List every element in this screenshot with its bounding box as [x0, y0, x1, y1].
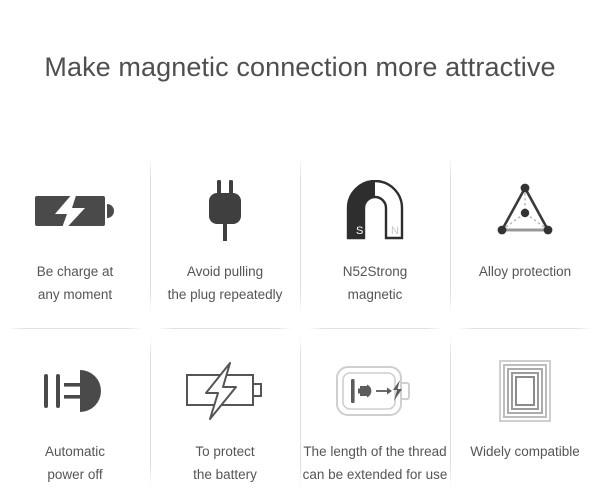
feature-caption: Be charge at any moment	[37, 260, 114, 306]
feature-cell-to-protect-the-battery: To protect the battery	[150, 328, 300, 501]
battery-bolt-outline-icon	[183, 354, 267, 428]
wireless-charging-pad-icon	[497, 354, 553, 428]
feature-cell-avoid-pulling-the-plug: Avoid pulling the plug repeatedly	[150, 148, 300, 328]
caption-line: N52Strong	[343, 260, 408, 283]
feature-cell-automatic-power-off: Automatic power off	[0, 328, 150, 501]
caption-line: power off	[45, 463, 105, 486]
plug-disconnect-icon	[38, 354, 112, 428]
feature-grid: Be charge at any moment Avoid pulling th…	[0, 148, 600, 501]
feature-caption: Alloy protection	[479, 260, 571, 283]
caption-line: The length of the thread	[303, 440, 448, 463]
caption-line: the plug repeatedly	[168, 283, 283, 306]
feature-caption: N52Strong magnetic	[343, 260, 408, 306]
feature-caption: To protect the battery	[193, 440, 257, 486]
caption-line: magnetic	[343, 283, 408, 306]
feature-cell-n52-strong-magnetic: S N N52Strong magnetic	[300, 148, 450, 328]
feature-caption: Avoid pulling the plug repeatedly	[168, 260, 283, 306]
svg-text:N: N	[391, 225, 399, 237]
caption-line: To protect	[193, 440, 257, 463]
caption-line: the battery	[193, 463, 257, 486]
caption-line: Widely compatible	[470, 440, 580, 463]
horseshoe-magnet-icon: S N	[344, 174, 406, 248]
page-title: Make magnetic connection more attractive	[0, 52, 600, 83]
feature-cell-widely-compatible: Widely compatible	[450, 328, 600, 501]
caption-line: Alloy protection	[479, 260, 571, 283]
caption-line: any moment	[37, 283, 114, 306]
power-plug-filled-icon	[199, 174, 251, 248]
caption-line: Automatic	[45, 440, 105, 463]
caption-line: Be charge at	[37, 260, 114, 283]
caption-line: can be extended for use	[303, 463, 448, 486]
feature-caption: Automatic power off	[45, 440, 105, 486]
alloy-molecule-tetrahedron-icon	[494, 174, 556, 248]
feature-caption: The length of the thread can be extended…	[303, 440, 448, 486]
feature-caption: Widely compatible	[470, 440, 580, 463]
caption-line: Avoid pulling	[168, 260, 283, 283]
feature-cell-be-charge-at-any-moment: Be charge at any moment	[0, 148, 150, 328]
battery-cable-extend-icon	[334, 354, 416, 428]
feature-cell-alloy-protection: Alloy protection	[450, 148, 600, 328]
battery-charging-filled-icon	[33, 174, 117, 248]
feature-highlights-page: Make magnetic connection more attractive…	[0, 0, 600, 501]
svg-text:S: S	[356, 225, 363, 237]
feature-cell-thread-length-extended: The length of the thread can be extended…	[300, 328, 450, 501]
